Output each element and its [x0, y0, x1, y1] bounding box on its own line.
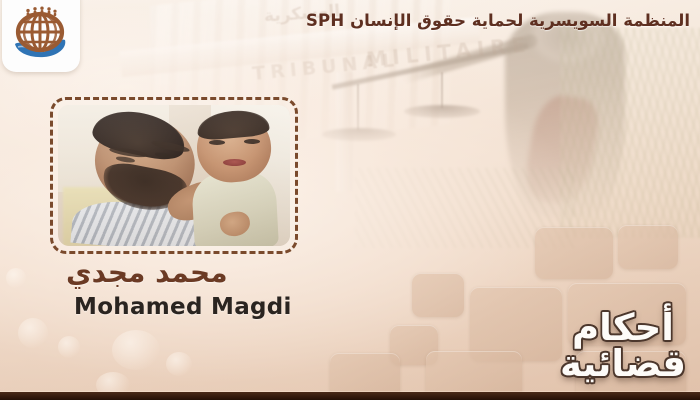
mosaic-tile [618, 225, 678, 269]
program-title-line-1: أحكام [560, 310, 686, 346]
bottom-bar [0, 392, 700, 400]
mosaic-tile [470, 287, 562, 361]
program-title-line-2: قضائية [560, 346, 686, 382]
subject-photo [58, 105, 290, 246]
photo-color-grade [58, 105, 290, 246]
subject-name-arabic: محمد مجدي [66, 256, 228, 289]
bokeh-light [58, 336, 80, 358]
broadcast-graphic: العسكرية TRIBUNAL MILITAIRE [0, 0, 700, 400]
mosaic-tile [412, 273, 464, 317]
bokeh-light [166, 352, 192, 376]
bokeh-light [6, 268, 26, 288]
organization-logo-badge[interactable] [2, 0, 80, 72]
subject-name-english: Mohamed Magdi [74, 294, 292, 320]
program-title: أحكام قضائية [560, 310, 686, 382]
bokeh-light [112, 330, 160, 370]
bokeh-light [18, 318, 48, 348]
mosaic-tile [535, 227, 613, 279]
subject-photo-frame[interactable] [50, 97, 298, 254]
globe-logo-icon [10, 6, 72, 64]
organization-header-title: المنظمة السويسرية لحماية حقوق الإنسان SP… [306, 11, 690, 30]
